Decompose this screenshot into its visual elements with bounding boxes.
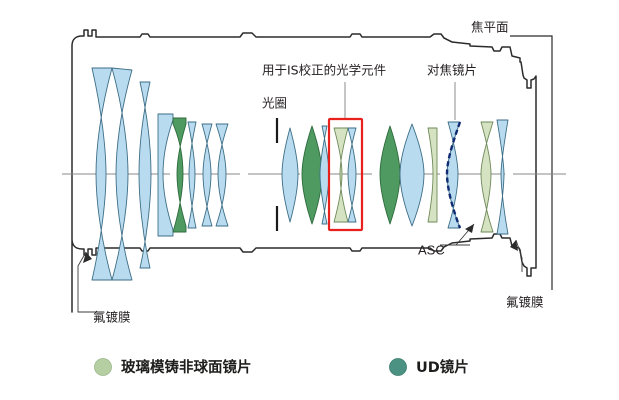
label-fluorine-coating-rear: 氟镀膜 bbox=[506, 295, 544, 310]
lens-element-15 bbox=[400, 124, 424, 226]
lens-element-9 bbox=[282, 128, 298, 222]
lens-element-16-aspherical bbox=[428, 128, 437, 222]
lens-diagram-canvas: 用于IS校正的光学元件 光圈 对焦镜片 焦平面 ASC 氟镀膜 氟镀膜 玻璃模铸… bbox=[0, 0, 619, 400]
focal-plane-marker bbox=[510, 36, 552, 290]
lens-element-18-aspherical bbox=[481, 122, 493, 232]
legend-label-aspherical: 玻璃模铸非球面镜片 bbox=[121, 358, 252, 376]
lens-element-6 bbox=[188, 122, 196, 228]
lens-element-12-aspherical bbox=[334, 128, 348, 222]
lens-element-19 bbox=[497, 120, 508, 234]
lens-element-13 bbox=[348, 128, 356, 222]
legend-label-ud: UD镜片 bbox=[416, 358, 469, 376]
label-focus-group: 对焦镜片 bbox=[427, 63, 477, 78]
label-is-group: 用于IS校正的光学元件 bbox=[262, 63, 386, 78]
lens-cross-section-diagram: 用于IS校正的光学元件 光圈 对焦镜片 焦平面 ASC 氟镀膜 氟镀膜 玻璃模铸… bbox=[0, 0, 619, 400]
label-aperture: 光圈 bbox=[262, 96, 287, 111]
label-focal-plane: 焦平面 bbox=[471, 20, 509, 35]
lens-element-4 bbox=[158, 114, 173, 236]
lens-element-8 bbox=[216, 124, 228, 226]
rear-lens-group bbox=[481, 120, 508, 234]
lens-element-11 bbox=[320, 126, 329, 224]
middle-lens-group bbox=[282, 119, 362, 230]
lens-element-10-ud bbox=[302, 126, 322, 224]
focus-lens-group bbox=[380, 122, 460, 228]
barrel-inner-steps bbox=[444, 38, 452, 42]
lens-element-5-ud bbox=[173, 118, 186, 232]
lens-element-3 bbox=[139, 82, 151, 268]
legend: 玻璃模铸非球面镜片 UD镜片 bbox=[95, 358, 469, 376]
legend-dot-aspherical bbox=[95, 359, 112, 376]
label-fluorine-coating-front: 氟镀膜 bbox=[93, 310, 131, 325]
label-asc: ASC bbox=[418, 242, 445, 257]
arrowhead-asc bbox=[465, 224, 474, 233]
legend-dot-ud bbox=[390, 359, 407, 376]
lens-element-14-ud bbox=[380, 126, 400, 224]
lens-element-7 bbox=[202, 124, 212, 226]
